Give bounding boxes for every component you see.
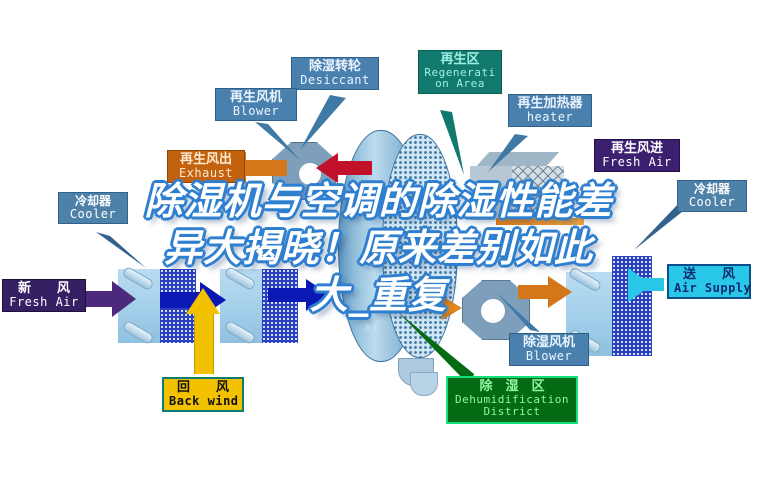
label-cooler-left[interactable]: 冷却器 Cooler: [58, 192, 128, 224]
label-cooler-left-en: Cooler: [64, 208, 122, 221]
label-regen-heater[interactable]: 再生加热器 heater: [508, 94, 592, 127]
label-regen-fresh-air[interactable]: 再生风进 Fresh Air: [594, 139, 680, 172]
label-fresh-air-in-en: Fresh Air: [8, 296, 80, 309]
label-fresh-air-in-cn: 新 风: [8, 282, 80, 296]
label-air-supply[interactable]: 送 风 Air Supply: [667, 264, 751, 299]
label-regen-heater-en: heater: [514, 111, 586, 124]
label-regen-exhaust-cn: 再生风出: [173, 153, 239, 167]
label-dehum-district[interactable]: 除 湿 区 Dehumidification District: [446, 376, 578, 424]
label-back-wind-cn: 回 风: [169, 381, 237, 395]
label-regen-exhaust-en: Exhaust: [173, 167, 239, 180]
label-dehum-blower-cn: 除湿风机: [515, 336, 583, 350]
diagram-canvas: xT: [0, 0, 757, 488]
label-desiccant-wheel-cn: 除湿转轮: [297, 60, 373, 74]
label-desiccant-wheel[interactable]: 除湿转轮 Desiccant: [291, 57, 379, 90]
label-back-wind[interactable]: 回 风 Back wind: [162, 377, 244, 412]
label-regen-area[interactable]: 再生区 Regenerati on Area: [418, 50, 502, 94]
label-dehum-blower-en: Blower: [515, 350, 583, 363]
label-regen-heater-cn: 再生加热器: [514, 97, 586, 111]
label-desiccant-wheel-en: Desiccant: [297, 74, 373, 87]
label-air-supply-en: Air Supply: [674, 282, 744, 295]
label-regen-fresh-air-en: Fresh Air: [600, 156, 674, 169]
label-regen-fresh-air-cn: 再生风进: [600, 142, 674, 156]
label-back-wind-en: Back wind: [169, 395, 237, 408]
label-regen-blower-cn: 再生风机: [221, 91, 291, 105]
label-cooler-left-cn: 冷却器: [64, 195, 122, 208]
label-dehum-district-en: Dehumidification District: [453, 394, 571, 419]
label-regen-blower[interactable]: 再生风机 Blower: [215, 88, 297, 121]
label-dehum-district-cn: 除 湿 区: [453, 380, 571, 394]
label-cooler-right-cn: 冷却器: [683, 183, 741, 196]
label-regen-exhaust[interactable]: 再生风出 Exhaust: [167, 150, 245, 183]
label-cooler-right[interactable]: 冷却器 Cooler: [677, 180, 747, 212]
label-air-supply-cn: 送 风: [674, 268, 744, 282]
label-regen-area-en: Regenerati on Area: [424, 67, 496, 90]
label-regen-blower-en: Blower: [221, 105, 291, 118]
label-fresh-air-in[interactable]: 新 风 Fresh Air: [2, 279, 86, 312]
label-cooler-right-en: Cooler: [683, 196, 741, 209]
label-regen-area-cn: 再生区: [424, 53, 496, 67]
label-dehum-blower[interactable]: 除湿风机 Blower: [509, 333, 589, 366]
